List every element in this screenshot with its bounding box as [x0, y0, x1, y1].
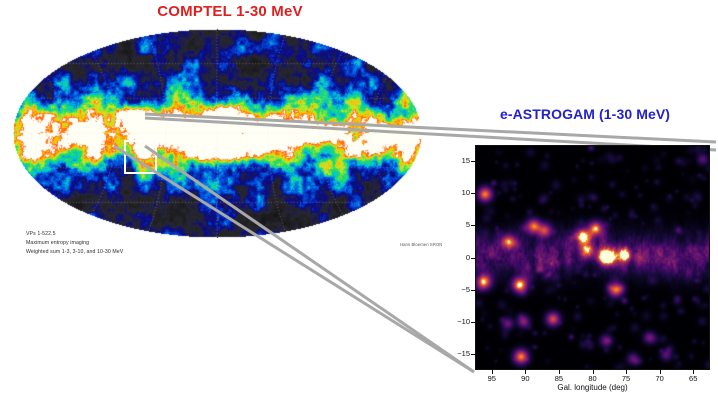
astrogam-panel-title: e-ASTROGAM (1-30 MeV) — [455, 106, 715, 122]
y-tick-label: 0 — [444, 253, 470, 262]
x-tick-label: 85 — [547, 374, 571, 383]
y-tick-label: 5 — [444, 220, 470, 229]
x-tick-mark — [525, 370, 526, 374]
comptel-panel-title: COMPTEL 1-30 MeV — [0, 3, 460, 20]
map-note-weighted-sum: Weighted sum 1-3, 3-10, and 10-30 MeV — [26, 249, 123, 255]
x-tick-label: 75 — [614, 374, 638, 383]
x-tick-mark — [626, 370, 627, 374]
y-tick-mark — [471, 225, 475, 226]
comptel-allsky-canvas — [12, 28, 422, 238]
y-tick-label: 10 — [444, 188, 470, 197]
x-axis-label: Gal. longitude (deg) — [475, 383, 710, 392]
x-tick-mark — [559, 370, 560, 374]
x-tick-label: 70 — [648, 374, 672, 383]
x-tick-mark — [492, 370, 493, 374]
astrogam-image-canvas — [476, 146, 709, 369]
y-tick-label: 15 — [444, 156, 470, 165]
x-tick-mark — [693, 370, 694, 374]
cygnus-region-zoom-box[interactable] — [124, 140, 157, 174]
y-tick-mark — [471, 322, 475, 323]
y-tick-label: −5 — [444, 285, 470, 294]
map-note-vps: VPs 1-522.5 — [26, 231, 56, 237]
map-credit: Hans Bloemen SRON — [400, 242, 442, 247]
y-tick-mark — [471, 161, 475, 162]
x-tick-mark — [660, 370, 661, 374]
y-tick-label: −15 — [444, 349, 470, 358]
astrogam-image-panel — [475, 145, 710, 370]
y-tick-label: −10 — [444, 317, 470, 326]
x-tick-label: 95 — [480, 374, 504, 383]
x-tick-mark — [593, 370, 594, 374]
x-tick-label: 65 — [681, 374, 705, 383]
comptel-allsky-map: VPs 1-522.5 Maximum entropy imaging Weig… — [12, 28, 422, 238]
y-tick-mark — [471, 193, 475, 194]
map-note-imaging: Maximum entropy imaging — [26, 240, 89, 246]
x-tick-label: 80 — [581, 374, 605, 383]
y-tick-mark — [471, 290, 475, 291]
y-tick-mark — [471, 258, 475, 259]
y-tick-mark — [471, 354, 475, 355]
x-tick-label: 90 — [513, 374, 537, 383]
